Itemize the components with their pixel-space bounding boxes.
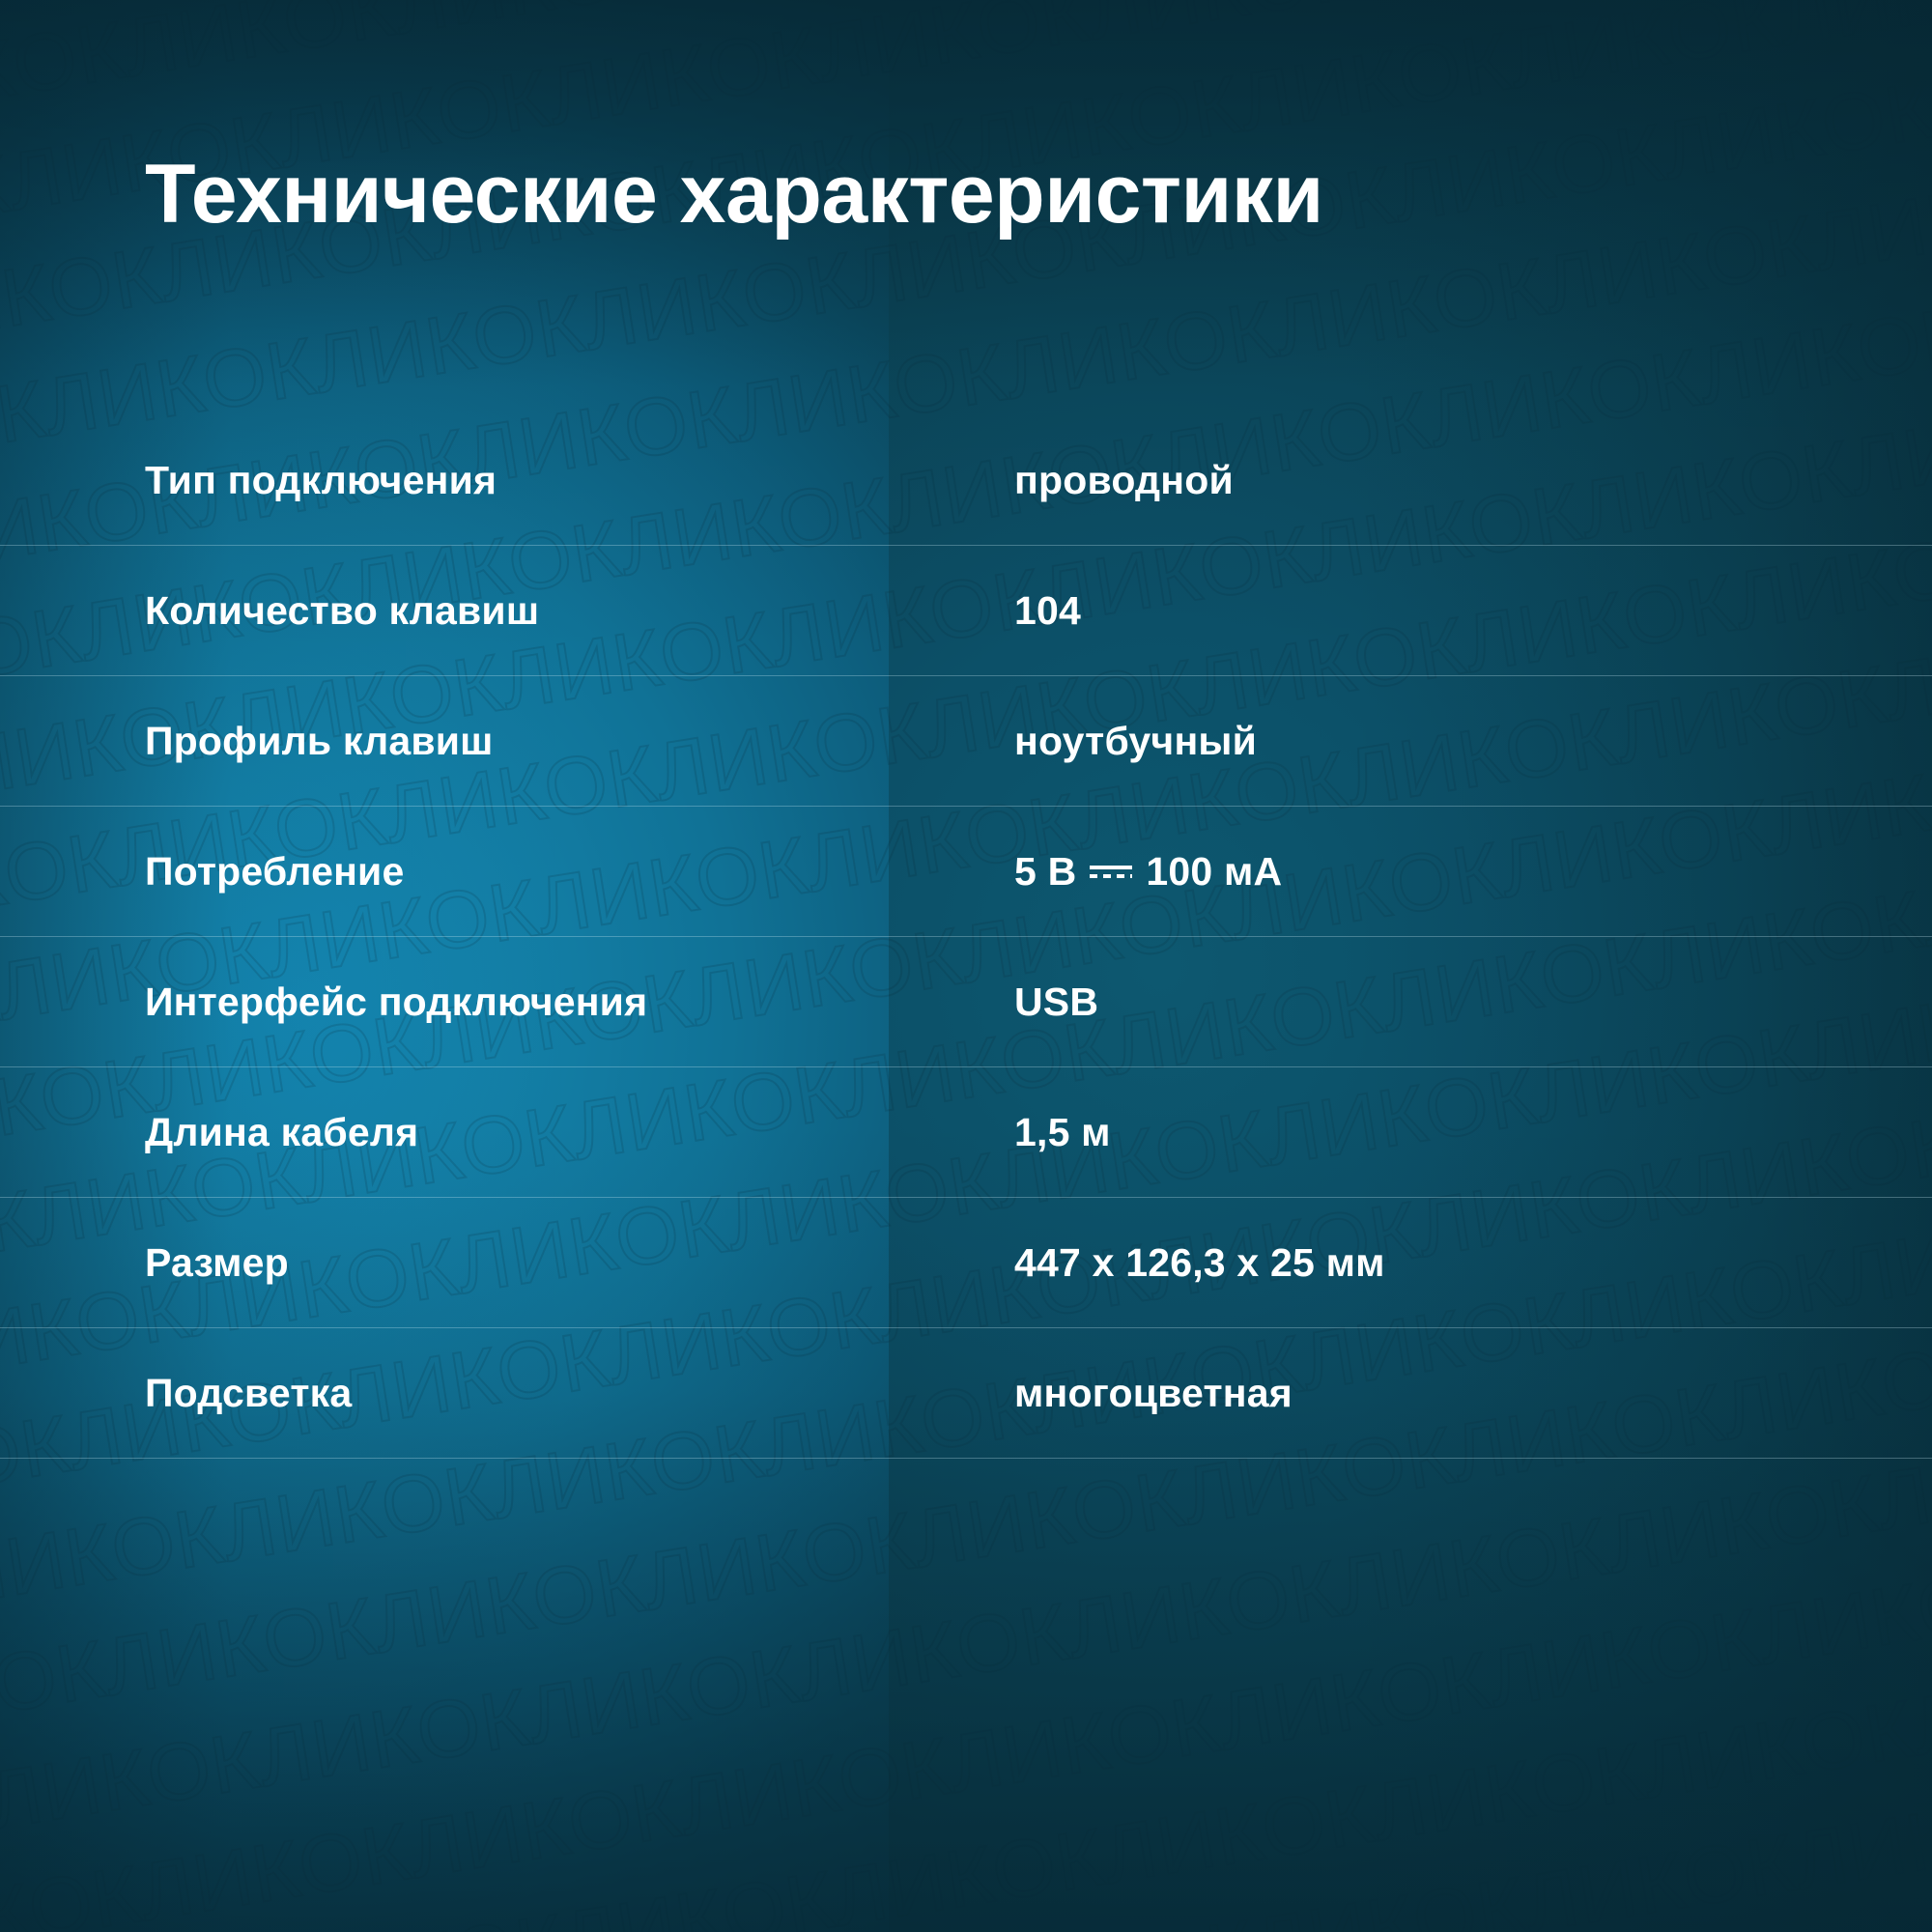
- spec-value-prefix: 5 В: [1014, 849, 1076, 895]
- spec-label: Подсветка: [0, 1371, 889, 1416]
- spec-value: 447 x 126,3 x 25 мм: [889, 1240, 1932, 1286]
- spec-label: Длина кабеля: [0, 1110, 889, 1155]
- spec-label: Профиль клавиш: [0, 719, 889, 764]
- spec-row: Подсветкамногоцветная: [0, 1328, 1932, 1459]
- spec-row: Потребление5 В100 мА: [0, 807, 1932, 937]
- spec-value: 5 В100 мА: [889, 849, 1932, 895]
- spec-label: Количество клавиш: [0, 588, 889, 634]
- spec-value: 104: [889, 588, 1932, 634]
- spec-row: Размер447 x 126,3 x 25 мм: [0, 1198, 1932, 1328]
- spec-row: Профиль клавишноутбучный: [0, 676, 1932, 807]
- page-title: Технические характеристики: [145, 151, 1323, 238]
- dc-power-icon: [1090, 860, 1132, 883]
- spec-value-suffix: 100 мА: [1146, 849, 1282, 895]
- spec-label: Тип подключения: [0, 458, 889, 503]
- spec-label: Потребление: [0, 849, 889, 895]
- spec-row: Количество клавиш104: [0, 546, 1932, 676]
- spec-value: USB: [889, 980, 1932, 1025]
- spec-value: ноутбучный: [889, 719, 1932, 764]
- spec-value: многоцветная: [889, 1371, 1932, 1416]
- specifications-table: Тип подключенияпроводнойКоличество клави…: [0, 415, 1932, 1459]
- spec-label: Интерфейс подключения: [0, 980, 889, 1025]
- spec-sheet-page: КЛИКОКЛИКОКЛИКОКЛИКОКЛИКОКЛИКОКЛИКОКЛИКО…: [0, 0, 1932, 1932]
- spec-row: Тип подключенияпроводной: [0, 415, 1932, 546]
- spec-value: проводной: [889, 458, 1932, 503]
- spec-row: Интерфейс подключенияUSB: [0, 937, 1932, 1067]
- spec-label: Размер: [0, 1240, 889, 1286]
- spec-value: 1,5 м: [889, 1110, 1932, 1155]
- spec-row: Длина кабеля1,5 м: [0, 1067, 1932, 1198]
